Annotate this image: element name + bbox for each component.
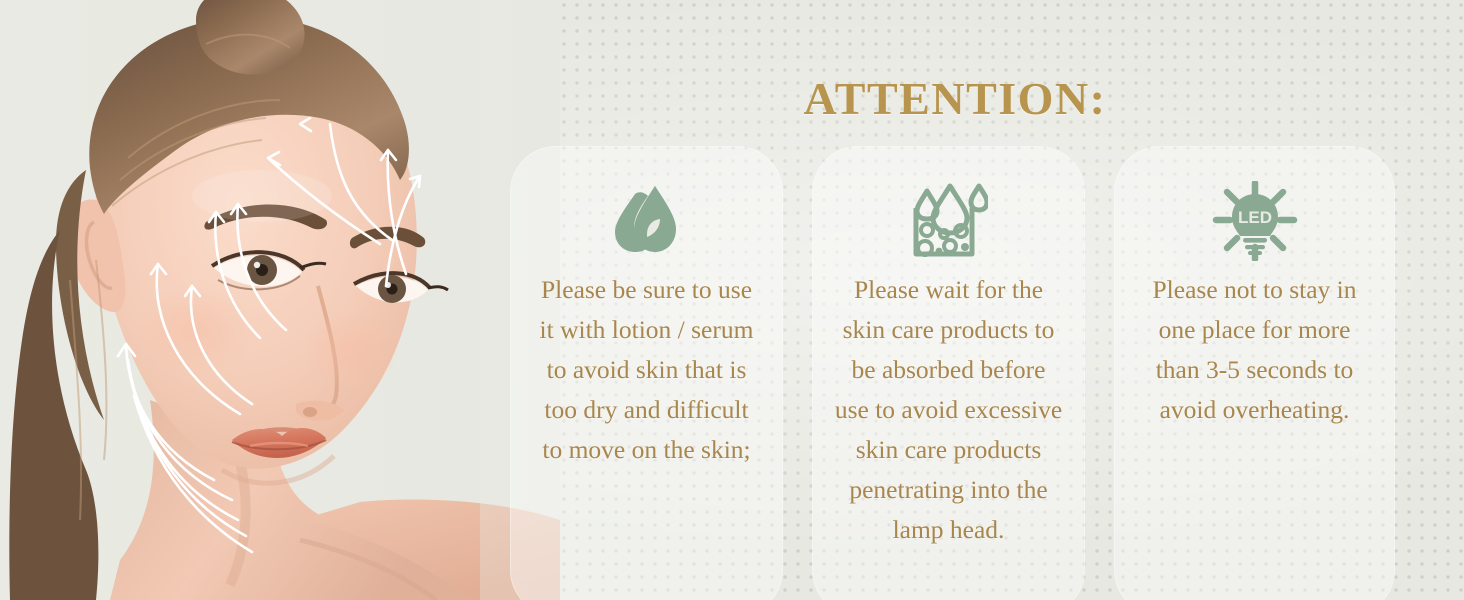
card-text: Please wait for the skin care products t… <box>834 270 1063 550</box>
page-title: ATTENTION: <box>510 76 1400 122</box>
led-label: LED <box>1238 208 1272 227</box>
card-text: Please be sure to use it with lotion / s… <box>532 270 761 470</box>
card-overheating[interactable]: LED Please not to stay in one place for … <box>1114 146 1395 600</box>
card-lotion[interactable]: Please be sure to use it with lotion / s… <box>510 146 783 600</box>
led-bulb-icon: LED <box>1212 178 1298 264</box>
attention-banner: ATTENTION: Please be sure to use it with… <box>0 0 1464 600</box>
water-droplets-icon <box>610 178 684 264</box>
card-absorption[interactable]: Please wait for the skin care products t… <box>812 146 1085 600</box>
card-text: Please not to stay in one place for more… <box>1136 270 1373 430</box>
skin-absorption-icon <box>910 178 988 264</box>
model-photo <box>0 0 560 600</box>
